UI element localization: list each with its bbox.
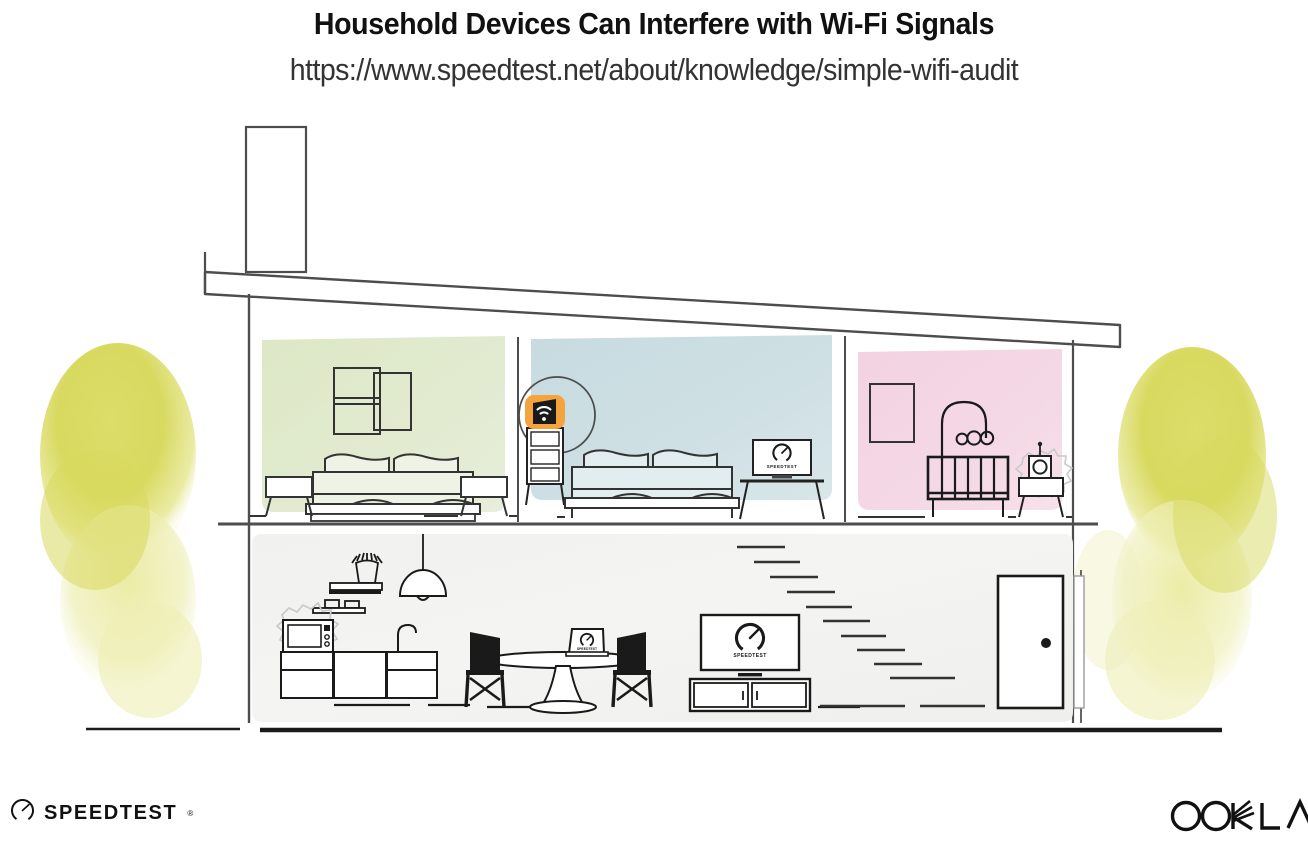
speedtest-wordmark: SPEEDTEST (44, 802, 177, 825)
infographic-canvas: Household Devices Can Interfere with Wi-… (0, 0, 1308, 861)
foliage-left (40, 343, 202, 718)
house-illustration: SPEEDTEST (0, 0, 1308, 861)
room-middle-bedroom: SPEEDTEST (519, 335, 845, 522)
svg-text:SPEEDTEST: SPEEDTEST (733, 653, 766, 659)
front-door (998, 576, 1063, 708)
room-nursery (858, 349, 1072, 517)
chimney (246, 127, 306, 272)
roof-slab (205, 252, 1120, 347)
lower-floor: SPEEDTEST (252, 534, 1073, 722)
desk-with-monitor: SPEEDTEST (740, 440, 824, 519)
ookla-wordmark-icon (1164, 795, 1308, 837)
speedtest-logo: SPEEDTEST ® (10, 798, 193, 828)
laptop-speedtest-screen: SPEEDTEST (566, 629, 608, 656)
foliage-right (1072, 347, 1277, 720)
svg-text:SPEEDTEST: SPEEDTEST (577, 647, 598, 651)
ground-line (86, 729, 1222, 730)
room-left-bedroom (250, 336, 518, 522)
speedtest-trademark: ® (187, 809, 193, 818)
speedometer-icon (10, 798, 35, 828)
wifi-router (525, 395, 565, 429)
ookla-logo (1164, 795, 1308, 837)
downspout (1074, 570, 1084, 723)
svg-text:SPEEDTEST: SPEEDTEST (767, 464, 798, 469)
